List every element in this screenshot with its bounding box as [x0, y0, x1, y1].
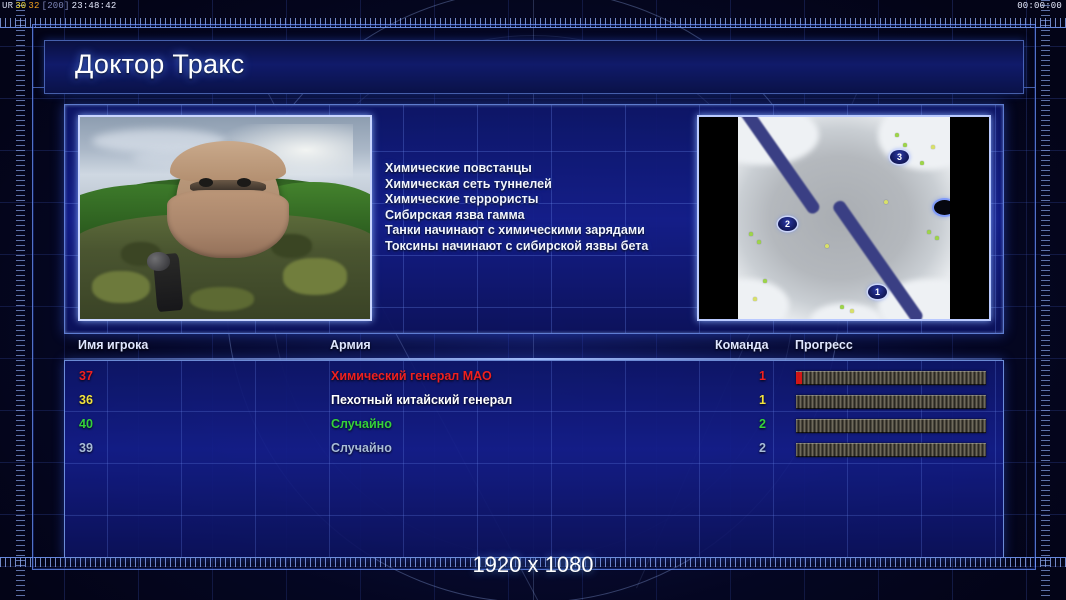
player-team[interactable]: 1 [746, 369, 766, 383]
map-tree-13 [840, 305, 844, 309]
map-image: 3 2 1 [738, 117, 950, 319]
status-prefix: UR [2, 1, 13, 11]
player-army[interactable]: Пехотный китайский генерал [331, 393, 512, 407]
map-tree-12 [753, 297, 757, 301]
player-progress-fill [796, 372, 802, 384]
map-tree-9 [927, 230, 931, 234]
player-team[interactable]: 2 [746, 441, 766, 455]
status-bracket: [200] [42, 1, 70, 11]
roster-header-row: Имя игрока Армия Команда Прогресс [64, 338, 1002, 358]
player-progress-bar [796, 395, 986, 409]
player-name: 40 [79, 417, 93, 431]
map-start-unnumbered [934, 200, 950, 215]
player-team[interactable]: 1 [746, 393, 766, 407]
column-header-progress: Прогресс [795, 338, 853, 352]
map-start-position-1: 1 [868, 285, 887, 299]
portrait-eye-right [237, 178, 252, 187]
status-time: 23:48:42 [72, 1, 117, 11]
table-row[interactable]: 40 Случайно 2 [65, 413, 1003, 437]
description-line-1: Химические повстанцы [385, 161, 648, 177]
army-description: Химические повстанцы Химическая сеть тун… [385, 161, 648, 255]
map-tree-5 [884, 200, 888, 204]
commander-portrait [78, 115, 372, 321]
column-header-army: Армия [330, 338, 371, 352]
status-left-group: UR3032[200]23:48:42 [2, 1, 118, 11]
screen-root: UR3032[200]23:48:42 00:00:00 Доктор Трак… [0, 0, 1066, 600]
player-progress-bar [796, 419, 986, 433]
portrait-camo-patch-1 [92, 271, 150, 303]
player-progress-bar [796, 443, 986, 457]
portrait-camo-patch-3 [283, 258, 347, 294]
table-row[interactable]: 36 Пехотный китайский генерал 1 [65, 389, 1003, 413]
resolution-label: 1920 x 1080 [0, 552, 1066, 578]
map-preview[interactable]: 3 2 1 [697, 115, 991, 321]
roster-panel: 37 Химический генерал МАО 1 36 Пехотный … [64, 360, 1004, 558]
player-name: 39 [79, 441, 93, 455]
player-army[interactable]: Случайно [331, 417, 392, 431]
description-line-6: Токсины начинают с сибирской язвы бета [385, 239, 648, 255]
status-bar: UR3032[200]23:48:42 00:00:00 [0, 0, 1066, 13]
description-line-3: Химические террористы [385, 192, 648, 208]
map-start-position-3: 3 [890, 150, 909, 164]
map-tree-6 [749, 232, 753, 236]
portrait-camo-patch-5 [190, 287, 254, 311]
column-header-player-name: Имя игрока [78, 338, 148, 352]
description-line-5: Танки начинают с химическими зарядами [385, 223, 648, 239]
player-team[interactable]: 2 [746, 417, 766, 431]
map-tree-3 [931, 145, 935, 149]
portrait-equipment-knob [147, 252, 170, 270]
status-num-1: 30 [15, 1, 26, 11]
description-line-2: Химическая сеть туннелей [385, 177, 648, 193]
table-row[interactable]: 39 Случайно 2 [65, 437, 1003, 461]
portrait-eye-left [199, 178, 214, 187]
map-start-position-2: 2 [778, 217, 797, 231]
table-row[interactable]: 37 Химический генерал МАО 1 [65, 365, 1003, 389]
player-name: 36 [79, 393, 93, 407]
player-army[interactable]: Случайно [331, 441, 392, 455]
ruler-right [1041, 0, 1050, 600]
player-army[interactable]: Химический генерал МАО [331, 369, 492, 383]
player-progress-bar [796, 371, 986, 385]
ruler-left [16, 0, 25, 600]
player-name: 37 [79, 369, 93, 383]
page-title: Доктор Тракс [75, 49, 245, 80]
title-panel: Доктор Тракс [44, 40, 1024, 94]
map-tree-1 [895, 133, 899, 137]
description-line-4: Сибирская язва гамма [385, 208, 648, 224]
status-timer: 00:00:00 [1017, 1, 1062, 11]
column-header-team: Команда [715, 338, 769, 352]
map-tree-8 [825, 244, 829, 248]
status-num-2: 32 [28, 1, 39, 11]
info-panel: Химические повстанцы Химическая сеть тун… [64, 104, 1004, 334]
